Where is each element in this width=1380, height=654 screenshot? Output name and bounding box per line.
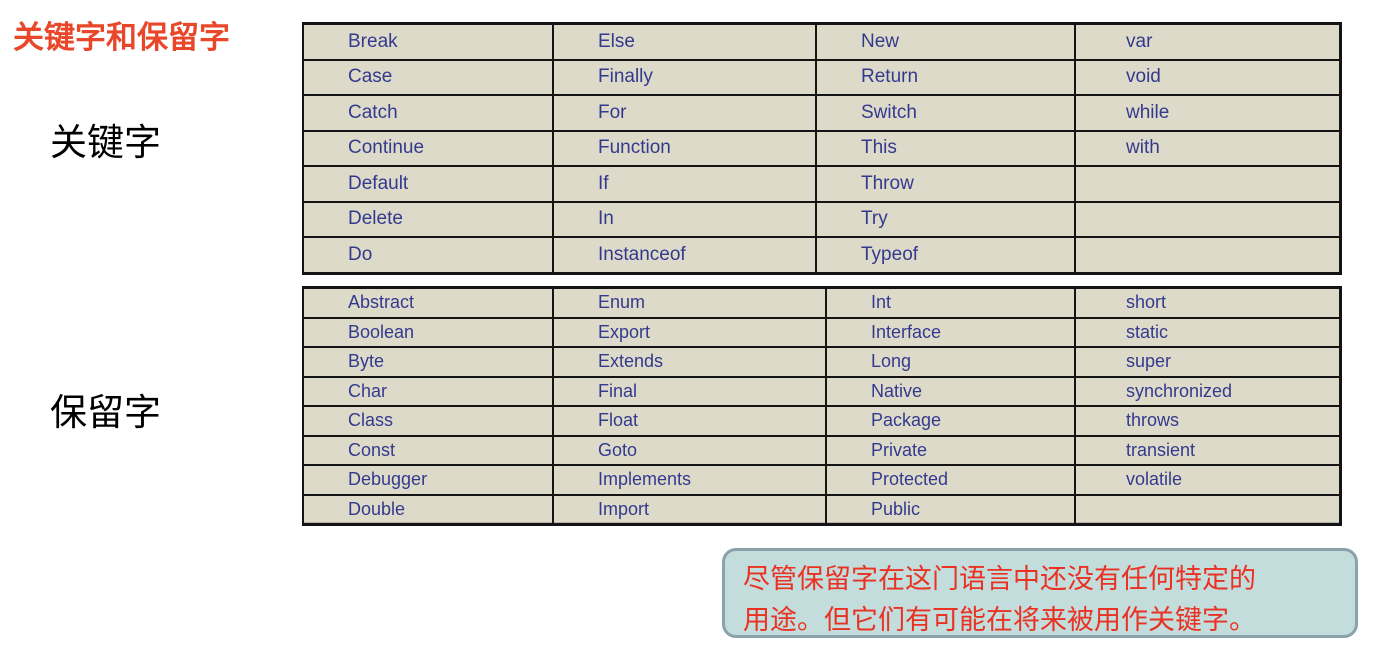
- table-cell: Const: [303, 436, 553, 466]
- table-cell: Native: [826, 377, 1075, 407]
- table-cell: transient: [1075, 436, 1341, 466]
- table-cell: [1075, 495, 1341, 525]
- table-cell: Abstract: [303, 288, 553, 318]
- table-cell: Return: [816, 60, 1075, 96]
- table-cell: [1075, 166, 1341, 202]
- table-cell: New: [816, 24, 1075, 60]
- keyword-row: DefaultIfThrow: [303, 166, 1341, 202]
- reserved-word-row: DebuggerImplementsProtectedvolatile: [303, 465, 1341, 495]
- table-cell: Break: [303, 24, 553, 60]
- note-line-1: 尽管保留字在这门语言中还没有任何特定的: [743, 559, 1341, 600]
- section-label-keywords: 关键字: [50, 124, 161, 161]
- keyword-row: CaseFinallyReturnvoid: [303, 60, 1341, 96]
- keyword-row: DeleteInTry: [303, 202, 1341, 238]
- table-cell: Protected: [826, 465, 1075, 495]
- table-cell: Long: [826, 347, 1075, 377]
- reserved-word-row: ByteExtendsLongsuper: [303, 347, 1341, 377]
- table-cell: Do: [303, 237, 553, 273]
- table-cell: Finally: [553, 60, 816, 96]
- keywords-table-body: BreakElseNewvarCaseFinallyReturnvoidCatc…: [303, 24, 1341, 274]
- reserved-words-table: AbstractEnumIntshortBooleanExportInterfa…: [302, 286, 1342, 526]
- reserved-word-row: BooleanExportInterfacestatic: [303, 318, 1341, 348]
- keyword-row: ContinueFunctionThiswith: [303, 131, 1341, 167]
- table-cell: Private: [826, 436, 1075, 466]
- table-cell: If: [553, 166, 816, 202]
- table-cell: Export: [553, 318, 826, 348]
- reserved-words-table-body: AbstractEnumIntshortBooleanExportInterfa…: [303, 288, 1341, 525]
- table-cell: Extends: [553, 347, 826, 377]
- table-cell: Try: [816, 202, 1075, 238]
- table-cell: For: [553, 95, 816, 131]
- table-cell: synchronized: [1075, 377, 1341, 407]
- table-cell: short: [1075, 288, 1341, 318]
- note-callout: 尽管保留字在这门语言中还没有任何特定的 用途。但它们有可能在将来被用作关键字。: [722, 548, 1358, 638]
- table-cell: Default: [303, 166, 553, 202]
- table-cell: Import: [553, 495, 826, 525]
- reserved-word-row: ConstGotoPrivatetransient: [303, 436, 1341, 466]
- table-cell: with: [1075, 131, 1341, 167]
- table-cell: Else: [553, 24, 816, 60]
- table-cell: var: [1075, 24, 1341, 60]
- table-cell: Byte: [303, 347, 553, 377]
- table-cell: Implements: [553, 465, 826, 495]
- table-cell: void: [1075, 60, 1341, 96]
- table-cell: super: [1075, 347, 1341, 377]
- table-cell: Instanceof: [553, 237, 816, 273]
- table-cell: Package: [826, 406, 1075, 436]
- table-cell: This: [816, 131, 1075, 167]
- table-cell: Case: [303, 60, 553, 96]
- table-cell: Boolean: [303, 318, 553, 348]
- table-cell: Goto: [553, 436, 826, 466]
- table-cell: Throw: [816, 166, 1075, 202]
- table-cell: Public: [826, 495, 1075, 525]
- reserved-word-row: AbstractEnumIntshort: [303, 288, 1341, 318]
- keyword-row: DoInstanceofTypeof: [303, 237, 1341, 273]
- table-cell: Catch: [303, 95, 553, 131]
- table-cell: Double: [303, 495, 553, 525]
- note-line-2: 用途。但它们有可能在将来被用作关键字。: [743, 600, 1341, 641]
- table-cell: throws: [1075, 406, 1341, 436]
- table-cell: Function: [553, 131, 816, 167]
- reserved-word-row: CharFinalNativesynchronized: [303, 377, 1341, 407]
- table-cell: Enum: [553, 288, 826, 318]
- table-cell: Continue: [303, 131, 553, 167]
- table-cell: Final: [553, 377, 826, 407]
- section-label-reserved: 保留字: [50, 394, 161, 431]
- table-cell: Char: [303, 377, 553, 407]
- table-cell: In: [553, 202, 816, 238]
- table-cell: Class: [303, 406, 553, 436]
- table-cell: static: [1075, 318, 1341, 348]
- table-cell: Interface: [826, 318, 1075, 348]
- keywords-table: BreakElseNewvarCaseFinallyReturnvoidCatc…: [302, 22, 1342, 275]
- table-cell: [1075, 202, 1341, 238]
- table-cell: Switch: [816, 95, 1075, 131]
- table-cell: while: [1075, 95, 1341, 131]
- table-cell: Delete: [303, 202, 553, 238]
- reserved-word-row: DoubleImportPublic: [303, 495, 1341, 525]
- table-cell: Int: [826, 288, 1075, 318]
- table-cell: Debugger: [303, 465, 553, 495]
- table-cell: Float: [553, 406, 826, 436]
- table-cell: Typeof: [816, 237, 1075, 273]
- keyword-row: BreakElseNewvar: [303, 24, 1341, 60]
- page-title: 关键字和保留字: [13, 22, 230, 53]
- table-cell: volatile: [1075, 465, 1341, 495]
- reserved-word-row: ClassFloatPackagethrows: [303, 406, 1341, 436]
- keyword-row: CatchForSwitchwhile: [303, 95, 1341, 131]
- table-cell: [1075, 237, 1341, 273]
